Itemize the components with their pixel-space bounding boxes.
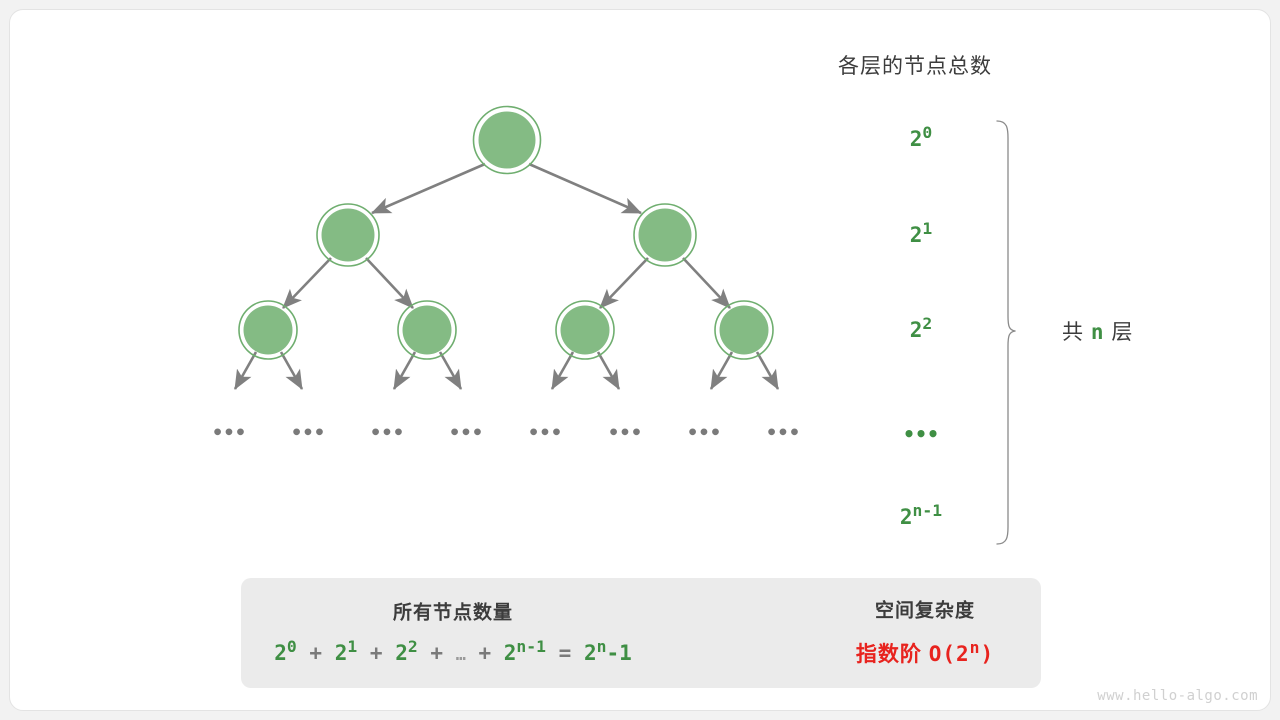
- tree-ellipsis: •••: [608, 422, 642, 444]
- tree-ellipsis: •••: [212, 422, 246, 444]
- level-count-label-0: 20: [910, 127, 933, 151]
- tree-ellipsis: •••: [449, 422, 483, 444]
- tree-node: [317, 204, 379, 266]
- tree-edges-level-2: [235, 352, 778, 389]
- total-levels-label: 共 n 层: [1062, 316, 1133, 346]
- level-count-label-last: 2n-1: [900, 505, 942, 529]
- formula-equals: =: [559, 641, 572, 665]
- formula-operator: +: [309, 641, 322, 665]
- level-count-base: 2: [910, 127, 923, 151]
- tree-node: [239, 301, 297, 359]
- level-count-label-2: 22: [910, 318, 933, 342]
- level-count-base: 2: [900, 505, 913, 529]
- level-count-label-1: 21: [910, 223, 933, 247]
- level-count-base: 2: [910, 223, 923, 247]
- watermark: www.hello-algo.com: [1097, 688, 1258, 704]
- space-complexity-heading: 空间复杂度: [875, 596, 975, 623]
- level-count-exponent: 1: [922, 219, 932, 238]
- diagram-canvas: ••• ••• ••• ••• ••• ••• ••• ••• 各层的节点总数 …: [0, 0, 1280, 720]
- total-nodes-formula: 20 + 21 + 22 + … + 2n-1 = 2n-1: [274, 641, 632, 665]
- tree-ellipsis: •••: [687, 422, 721, 444]
- tree-node: [634, 204, 696, 266]
- tree-node: [556, 301, 614, 359]
- total-levels-variable: n: [1091, 320, 1105, 344]
- complexity-big-o: O(2n): [929, 642, 994, 666]
- column-title-nodes-per-level: 各层的节点总数: [838, 50, 992, 80]
- complexity-class-label: 指数阶: [856, 643, 922, 666]
- tree-ellipsis: •••: [528, 422, 562, 444]
- levels-brace: [997, 121, 1015, 544]
- level-count-base: 2: [910, 318, 923, 342]
- total-nodes-heading: 所有节点数量: [393, 598, 513, 625]
- formula-operator: +: [430, 641, 443, 665]
- formula-result: 2n-1: [584, 641, 632, 665]
- formula-term-last: 2n-1: [504, 641, 546, 665]
- tree-nodes: [239, 107, 773, 360]
- tree-edges-level-0: [372, 164, 641, 213]
- tree-ellipsis: •••: [766, 422, 800, 444]
- summary-box: [241, 578, 1041, 688]
- formula-operator: +: [370, 641, 383, 665]
- tree-node: [715, 301, 773, 359]
- tree-ellipsis: •••: [291, 422, 325, 444]
- space-complexity-value: 指数阶 O(2n): [856, 638, 994, 668]
- formula-ellipsis: …: [456, 644, 466, 664]
- tree-ellipsis: •••: [370, 422, 404, 444]
- tree-node: [398, 301, 456, 359]
- level-count-exponent: 2: [922, 314, 932, 333]
- tree-node-root: [474, 107, 541, 174]
- formula-term-1: 21: [335, 641, 358, 665]
- formula-operator: +: [478, 641, 491, 665]
- formula-term-2: 22: [395, 641, 418, 665]
- level-count-exponent: 0: [922, 123, 932, 142]
- total-levels-prefix: 共: [1062, 321, 1084, 344]
- formula-term-0: 20: [274, 641, 297, 665]
- total-levels-suffix: 层: [1111, 321, 1133, 344]
- level-count-label-ellipsis: •••: [903, 422, 939, 446]
- level-count-exponent: n-1: [913, 501, 943, 520]
